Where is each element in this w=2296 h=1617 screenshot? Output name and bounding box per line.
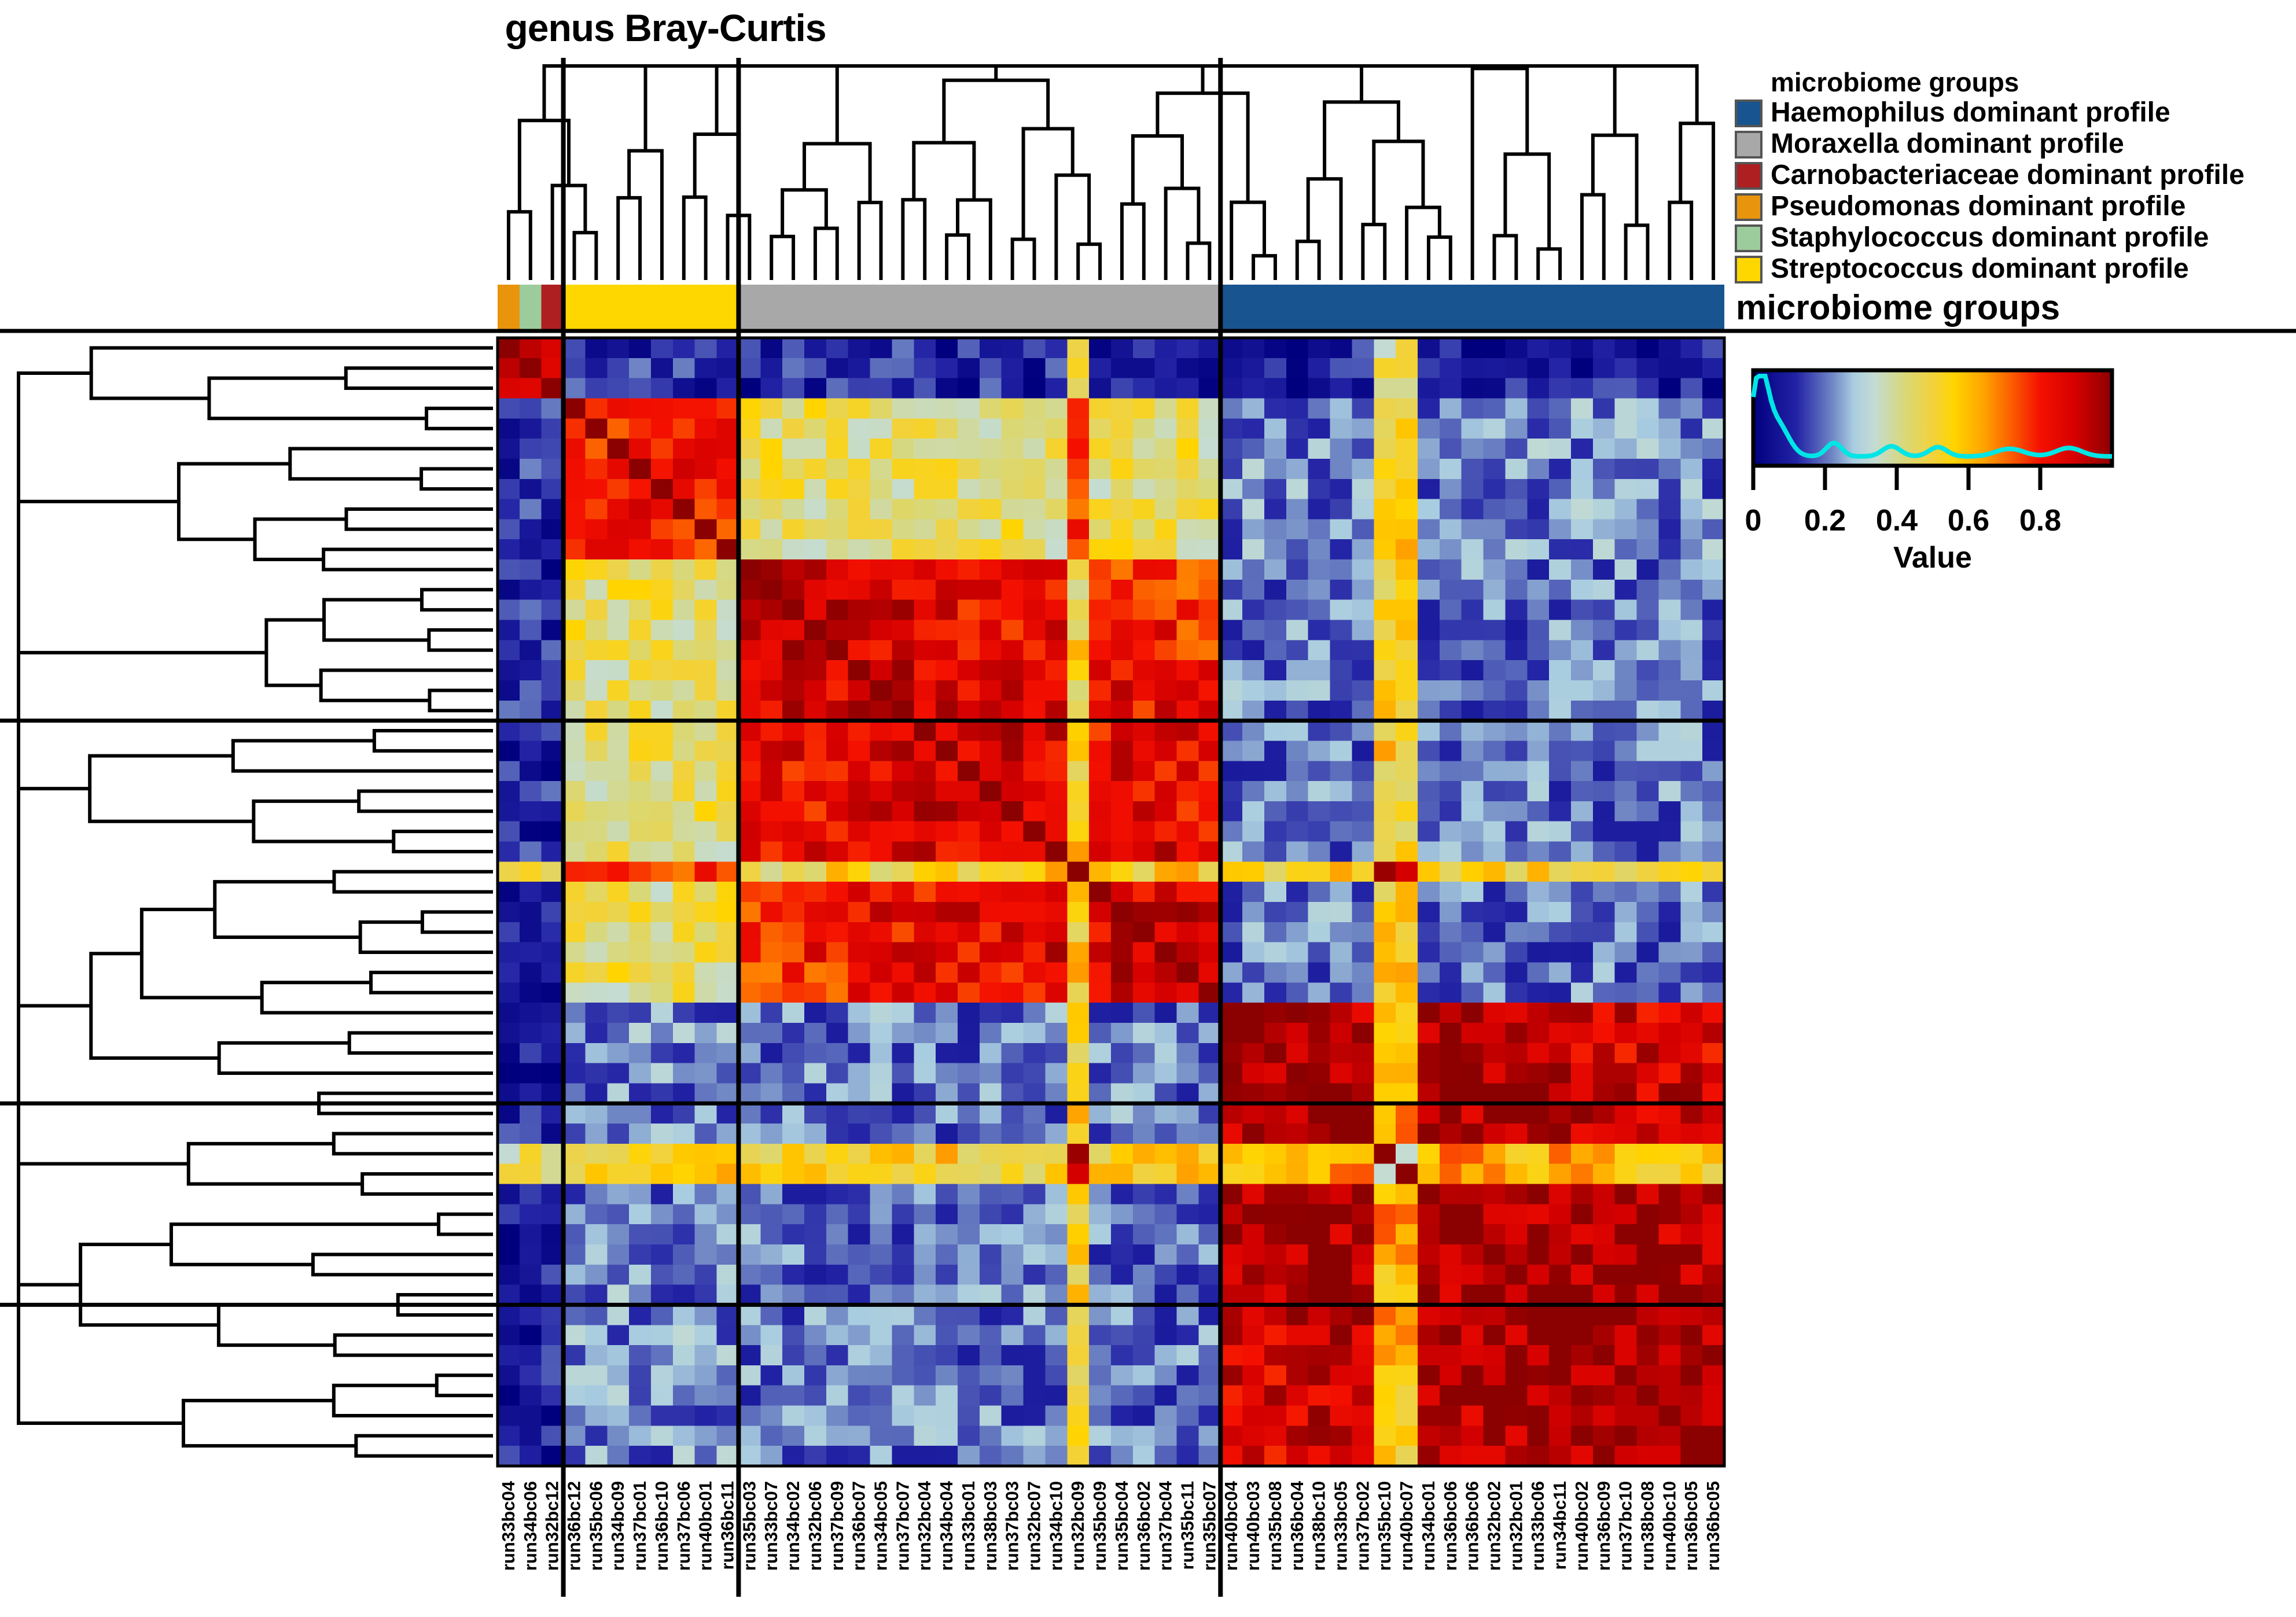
heatmap-cell (1242, 701, 1264, 721)
heatmap-cell (1242, 499, 1264, 520)
heatmap-cell (958, 1003, 980, 1023)
heatmap-cell (717, 378, 739, 399)
heatmap-cell (738, 1446, 760, 1466)
heatmap-cell (1111, 479, 1133, 499)
heatmap-cell (1089, 1265, 1111, 1285)
heatmap-cell (607, 640, 629, 660)
heatmap-cell (1352, 701, 1374, 721)
heatmap-cell (1374, 922, 1396, 942)
heatmap-cell (1352, 1446, 1374, 1466)
heatmap-cell (1264, 942, 1286, 963)
heatmap-cell (1286, 1063, 1308, 1084)
heatmap-cell (1396, 1063, 1418, 1084)
heatmap-cell (958, 1023, 980, 1043)
heatmap-cell (1418, 1386, 1440, 1406)
heatmap-cell (1658, 1285, 1680, 1305)
heatmap-cell (1680, 600, 1702, 620)
heatmap-cell (870, 620, 892, 640)
heatmap-cell (1418, 459, 1440, 479)
heatmap-cell (738, 539, 760, 559)
heatmap-cell (1220, 620, 1242, 640)
heatmap-cell (1198, 942, 1220, 963)
heatmap-cell (1308, 1043, 1330, 1063)
heatmap-cell (738, 741, 760, 761)
heatmap-cell (585, 640, 607, 660)
heatmap-cell (738, 842, 760, 862)
heatmap-cell (629, 781, 651, 801)
heatmap-cell (1374, 1083, 1396, 1103)
heatmap-cell (782, 1124, 804, 1144)
heatmap-cell (1658, 479, 1680, 499)
heatmap-cell (782, 1265, 804, 1285)
heatmap-cell (1571, 559, 1593, 580)
heatmap-cell (1527, 439, 1549, 459)
legend-label-staphylococcus: Staphylococcus dominant profile (1771, 222, 2209, 253)
heatmap-cell (1702, 1003, 1724, 1023)
heatmap-cell (1177, 801, 1199, 822)
heatmap-cell (1220, 640, 1242, 660)
heatmap-cell (651, 1023, 673, 1043)
heatmap-cell (1440, 600, 1462, 620)
heatmap-cell (1308, 640, 1330, 660)
heatmap-cell (760, 962, 782, 982)
heatmap-cell (892, 1305, 914, 1325)
heatmap-cell (1637, 378, 1659, 399)
heatmap-cell (848, 1285, 870, 1305)
heatmap-cell (1045, 1386, 1067, 1406)
heatmap-cell (1505, 1406, 1527, 1426)
heatmap-cell (1571, 701, 1593, 721)
heatmap-cell (958, 1426, 980, 1446)
heatmap-cell (1680, 358, 1702, 378)
heatmap-cell (1615, 580, 1637, 600)
heatmap-cell (760, 338, 782, 358)
heatmap-cell (520, 982, 542, 1003)
heatmap-cell (1418, 861, 1440, 882)
heatmap-cell (804, 378, 826, 399)
heatmap-cell (1286, 459, 1308, 479)
heatmap-cell (1505, 701, 1527, 721)
legend-label-carnobacteriaceae: Carnobacteriaceae dominant profile (1771, 160, 2245, 190)
heatmap-cell (1680, 1184, 1702, 1205)
heatmap-cell (564, 1426, 586, 1446)
heatmap-cell (1680, 519, 1702, 539)
heatmap-cell (717, 1184, 739, 1205)
heatmap-cell (1155, 418, 1177, 439)
heatmap-cell (673, 861, 695, 882)
heatmap-cell (958, 459, 980, 479)
heatmap-cell (1198, 1365, 1220, 1386)
heatmap-cell (1045, 580, 1067, 600)
heatmap-cell (1177, 1043, 1199, 1063)
heatmap-cell (1374, 1124, 1396, 1144)
heatmap-cell (892, 1003, 914, 1023)
heatmap-cell (1024, 962, 1046, 982)
heatmap-cell (848, 1345, 870, 1365)
heatmap-cell (914, 620, 936, 640)
heatmap-cell (1111, 680, 1133, 701)
heatmap-cell (1045, 358, 1067, 378)
heatmap-cell (1462, 1345, 1484, 1365)
annotation-segment-moraxella (738, 285, 1220, 330)
heatmap-cell (498, 701, 520, 721)
heatmap-cell (695, 1285, 717, 1305)
heatmap-cell (1177, 861, 1199, 882)
heatmap-cell (1593, 640, 1615, 660)
dendrogram-link (219, 1043, 493, 1073)
heatmap-cell (1418, 479, 1440, 499)
heatmap-cell (1352, 459, 1374, 479)
heatmap-cell (1418, 1285, 1440, 1305)
heatmap-cell (564, 479, 586, 499)
heatmap-cell (914, 418, 936, 439)
heatmap-cell (760, 1083, 782, 1103)
heatmap-cell (1045, 1164, 1067, 1184)
heatmap-cell (1198, 1063, 1220, 1084)
heatmap-cell (1702, 861, 1724, 882)
heatmap-cell (695, 1345, 717, 1365)
heatmap-cell (1352, 761, 1374, 781)
heatmap-cell (520, 942, 542, 963)
heatmap-cell (1330, 781, 1352, 801)
dendrogram-link (1495, 235, 1517, 280)
heatmap-cell (826, 479, 848, 499)
heatmap-cell (1155, 439, 1177, 459)
heatmap-cell (892, 1204, 914, 1224)
heatmap-cell (1264, 559, 1286, 580)
heatmap-cell (1462, 721, 1484, 741)
heatmap-cell (1045, 1144, 1067, 1164)
heatmap-cell (1220, 680, 1242, 701)
heatmap-cell (1527, 1023, 1549, 1043)
heatmap-cell (1527, 640, 1549, 660)
heatmap-cell (607, 1265, 629, 1285)
heatmap-cell (1045, 781, 1067, 801)
heatmap-cell (1549, 358, 1571, 378)
heatmap-cell (1637, 882, 1659, 902)
heatmap-cell (1505, 338, 1527, 358)
heatmap-cell (1024, 902, 1046, 922)
heatmap-cell (1527, 1285, 1549, 1305)
heatmap-cell (1220, 600, 1242, 620)
heatmap-cell (1615, 660, 1637, 680)
heatmap-cell (760, 1023, 782, 1043)
heatmap-cell (1155, 701, 1177, 721)
heatmap-cell (826, 982, 848, 1003)
heatmap-cell (629, 1365, 651, 1386)
heatmap-cell (1067, 1103, 1089, 1124)
heatmap-cell (1418, 539, 1440, 559)
heatmap-cell (804, 701, 826, 721)
heatmap-cell (936, 902, 958, 922)
heatmap-cell (1089, 1244, 1111, 1265)
heatmap-cell (826, 1446, 848, 1466)
heatmap-cell (629, 861, 651, 882)
column-label: run38bc03 (980, 1481, 1000, 1571)
heatmap-cell (520, 801, 542, 822)
heatmap-cell (1155, 1406, 1177, 1426)
heatmap-cell (1002, 640, 1024, 660)
heatmap-cell (782, 1204, 804, 1224)
heatmap-cell (1264, 1164, 1286, 1184)
heatmap-cell (1330, 861, 1352, 882)
heatmap-cell (1024, 1285, 1046, 1305)
heatmap-cell (826, 1124, 848, 1144)
heatmap-cell (848, 842, 870, 862)
heatmap-cell (980, 600, 1002, 620)
heatmap-cell (1133, 822, 1155, 842)
heatmap-cell (1111, 1224, 1133, 1244)
heatmap-cell (760, 902, 782, 922)
heatmap-cell (1396, 982, 1418, 1003)
heatmap-cell (498, 600, 520, 620)
heatmap-cell (1440, 1204, 1462, 1224)
heatmap-cell (1111, 1265, 1133, 1285)
heatmap-cell (717, 539, 739, 559)
heatmap-cell (1242, 660, 1264, 680)
heatmap-cell (607, 781, 629, 801)
heatmap-cell (1264, 1426, 1286, 1446)
heatmap-cell (1308, 1204, 1330, 1224)
heatmap-cell (1462, 559, 1484, 580)
heatmap-cell (980, 1204, 1002, 1224)
heatmap-cell (804, 1305, 826, 1325)
heatmap-cell (1264, 861, 1286, 882)
heatmap-cell (980, 580, 1002, 600)
heatmap-cell (1593, 1043, 1615, 1063)
heatmap-cell (760, 1124, 782, 1144)
heatmap-cell (1549, 801, 1571, 822)
heatmap-cell (520, 1144, 542, 1164)
heatmap-cell (914, 1265, 936, 1285)
heatmap-cell (1527, 842, 1549, 862)
heatmap-cell (848, 660, 870, 680)
heatmap-cell (1155, 962, 1177, 982)
column-label: run34bc06 (520, 1481, 540, 1571)
heatmap-cell (958, 701, 980, 721)
heatmap-cell (914, 1365, 936, 1386)
heatmap-cell (1024, 680, 1046, 701)
heatmap-cell (1484, 1446, 1506, 1466)
heatmap-cell (936, 620, 958, 640)
heatmap-cell (1264, 479, 1286, 499)
heatmap-cell (936, 1406, 958, 1426)
heatmap-cell (717, 1446, 739, 1466)
heatmap-cell (1155, 1164, 1177, 1184)
heatmap-cell (1680, 1285, 1702, 1305)
heatmap-cell (1680, 721, 1702, 741)
heatmap-cell (1198, 378, 1220, 399)
heatmap-cell (1308, 660, 1330, 680)
heatmap-cell (1658, 1446, 1680, 1466)
heatmap-cell (826, 942, 848, 963)
heatmap-cell (848, 1083, 870, 1103)
heatmap-cell (1505, 1124, 1527, 1144)
heatmap-cell (914, 801, 936, 822)
heatmap-cell (1024, 1426, 1046, 1446)
heatmap-cell (1220, 338, 1242, 358)
heatmap-cell (1111, 1164, 1133, 1184)
heatmap-cell (651, 1426, 673, 1446)
heatmap-cell (585, 1365, 607, 1386)
heatmap-cell (629, 1244, 651, 1265)
heatmap-cell (1374, 640, 1396, 660)
heatmap-cell (673, 1124, 695, 1144)
heatmap-cell (651, 861, 673, 882)
heatmap-cell (1615, 439, 1637, 459)
heatmap-cell (1549, 1144, 1571, 1164)
heatmap-cell (1330, 338, 1352, 358)
heatmap-cell (804, 660, 826, 680)
heatmap-cell (1111, 842, 1133, 862)
heatmap-cell (848, 1124, 870, 1144)
heatmap-cell (1286, 781, 1308, 801)
heatmap-cell (1615, 1144, 1637, 1164)
heatmap-cell (1702, 439, 1724, 459)
heatmap-cell (629, 1083, 651, 1103)
heatmap-cell (1242, 398, 1264, 418)
dendrogram-link (684, 197, 706, 280)
heatmap-cell (1462, 499, 1484, 520)
heatmap-cell (1352, 1265, 1374, 1285)
heatmap-cell (1155, 1124, 1177, 1144)
heatmap-cell (1045, 1083, 1067, 1103)
heatmap-cell (1242, 801, 1264, 822)
heatmap-cell (607, 982, 629, 1003)
heatmap-cell (1702, 781, 1724, 801)
heatmap-cell (1396, 479, 1418, 499)
heatmap-cell (1571, 882, 1593, 902)
heatmap-cell (1527, 1345, 1549, 1365)
heatmap-cell (782, 1446, 804, 1466)
heatmap-cell (1374, 741, 1396, 761)
heatmap-cell (673, 620, 695, 640)
column-label: run34bc01 (1418, 1481, 1438, 1571)
heatmap-cell (958, 559, 980, 580)
heatmap-cell (958, 439, 980, 459)
heatmap-cell (1505, 479, 1527, 499)
heatmap-cell (673, 922, 695, 942)
heatmap-cell (1593, 1386, 1615, 1406)
heatmap-cell (1658, 882, 1680, 902)
heatmap-cell (1637, 459, 1659, 479)
heatmap-cell (738, 1365, 760, 1386)
heatmap-cell (1418, 600, 1440, 620)
heatmap-cell (1527, 1184, 1549, 1205)
heatmap-cell (520, 882, 542, 902)
heatmap-cell (848, 1144, 870, 1164)
legend-label-pseudomonas: Pseudomonas dominant profile (1771, 191, 2185, 222)
heatmap-cell (542, 882, 564, 902)
heatmap-cell (892, 1164, 914, 1184)
heatmap-cell (1024, 519, 1046, 539)
heatmap-cell (1352, 942, 1374, 963)
heatmap-cell (651, 1204, 673, 1224)
heatmap-cell (1045, 1103, 1067, 1124)
heatmap-cell (1133, 1063, 1155, 1084)
heatmap-cell (1330, 1063, 1352, 1084)
heatmap-cell (738, 721, 760, 741)
heatmap-cell (1440, 1345, 1462, 1365)
heatmap-cell (1330, 680, 1352, 701)
heatmap-cell (1615, 378, 1637, 399)
heatmap-cell (936, 1446, 958, 1466)
heatmap-cell (1220, 1144, 1242, 1164)
heatmap-cell (1484, 942, 1506, 963)
heatmap-cell (1067, 1184, 1089, 1205)
heatmap-cell (498, 882, 520, 902)
heatmap-cell (1615, 1305, 1637, 1325)
heatmap-cell (958, 902, 980, 922)
heatmap-cell (782, 842, 804, 862)
heatmap-cell (651, 1325, 673, 1345)
heatmap-cell (607, 1365, 629, 1386)
column-label: run36bc06 (1462, 1481, 1482, 1571)
heatmap-cell (1593, 721, 1615, 741)
heatmap-cell (1658, 499, 1680, 520)
heatmap-cell (498, 1063, 520, 1084)
heatmap-cell (892, 861, 914, 882)
heatmap-cell (914, 882, 936, 902)
heatmap-cell (848, 600, 870, 620)
heatmap-cell (695, 842, 717, 862)
heatmap-cell (1680, 1063, 1702, 1084)
heatmap-cell (520, 781, 542, 801)
heatmap-cell (914, 701, 936, 721)
heatmap-cell (585, 861, 607, 882)
heatmap-cell (1330, 1244, 1352, 1265)
column-label: run36bc02 (1134, 1481, 1154, 1571)
heatmap-cell (1571, 539, 1593, 559)
column-label: run32bc12 (542, 1481, 562, 1571)
heatmap-cell (695, 1204, 717, 1224)
heatmap-cell (958, 1043, 980, 1063)
heatmap-cell (1155, 922, 1177, 942)
heatmap-cell (1308, 1305, 1330, 1325)
heatmap-cell (629, 600, 651, 620)
heatmap-cell (1133, 902, 1155, 922)
heatmap-cell (782, 439, 804, 459)
column-label: run37bc10 (1616, 1481, 1636, 1571)
heatmap-cell (1133, 962, 1155, 982)
heatmap-cell (564, 1164, 586, 1184)
heatmap-cell (1418, 822, 1440, 842)
heatmap-cell (607, 861, 629, 882)
heatmap-cell (804, 822, 826, 842)
heatmap-cell (760, 1184, 782, 1205)
heatmap-cell (1024, 1124, 1046, 1144)
heatmap-cell (1527, 1265, 1549, 1285)
heatmap-cell (1220, 1103, 1242, 1124)
heatmap-cell (936, 539, 958, 559)
heatmap-cell (717, 1083, 739, 1103)
heatmap-cell (1702, 1063, 1724, 1084)
heatmap-cell (1374, 1184, 1396, 1205)
heatmap-cell (1702, 660, 1724, 680)
heatmap-cell (1045, 398, 1067, 418)
heatmap-cell (848, 1244, 870, 1265)
heatmap-cell (1308, 922, 1330, 942)
heatmap-cell (1615, 1325, 1637, 1345)
heatmap-cell (1067, 882, 1089, 902)
heatmap-cell (1484, 1244, 1506, 1265)
heatmap-cell (1440, 1023, 1462, 1043)
heatmap-cell (1111, 982, 1133, 1003)
heatmap-cell (629, 982, 651, 1003)
heatmap-cell (1242, 1265, 1264, 1285)
heatmap-cell (1374, 942, 1396, 963)
heatmap-cell (826, 1043, 848, 1063)
